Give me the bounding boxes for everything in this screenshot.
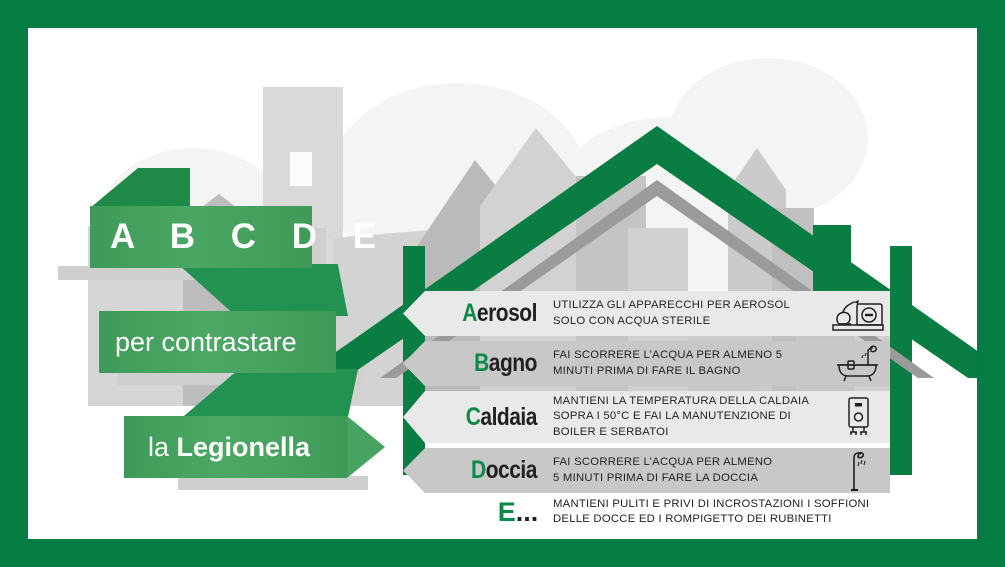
tip-row-aerosol[interactable]: Aerosol UTILIZZA GLI APPARECCHI PER AERO… — [425, 291, 890, 336]
row-arrow-tip — [403, 391, 425, 443]
ribbon-arrow-tip — [347, 416, 385, 478]
boiler-icon — [826, 395, 890, 439]
ribbon-line-1: A B C D E — [110, 217, 389, 257]
tip-text-final-note: MANTIENI PULITI E PRIVI DI INCROSTAZIONI… — [553, 497, 903, 528]
tip-row-bagno[interactable]: Bagno FAI SCORRERE L’ACQUA PER ALMENO 5 … — [425, 341, 890, 386]
ribbon-shadow — [178, 476, 368, 490]
poster-canvas: A B C D E per contrastare la Legionella … — [28, 28, 977, 539]
row-arrow-tip — [403, 291, 425, 336]
tip-row-caldaia[interactable]: Caldaia MANTIENI LA TEMPERATURA DELLA CA… — [425, 391, 890, 443]
ribbon-band-subtitle: per contrastare — [99, 311, 336, 373]
tip-row-final-note: E... MANTIENI PULITI E PRIVI DI INCROSTA… — [483, 486, 903, 538]
poster-frame: A B C D E per contrastare la Legionella … — [0, 0, 1005, 567]
tip-text-bagno: FAI SCORRERE L’ACQUA PER ALMENO 5 MINUTI… — [547, 348, 826, 378]
row-arrow-tip — [403, 341, 425, 386]
tip-label-caldaia: Caldaia — [445, 403, 547, 432]
ribbon-band-title: la Legionella — [124, 416, 347, 478]
ribbon-line-3-keyword: Legionella — [177, 432, 311, 462]
tip-text-doccia: FAI SCORRERE L’ACQUA PER ALMENO 5 MINUTI… — [547, 455, 826, 485]
tip-label-e: E... — [483, 497, 553, 528]
ribbon-band-abcde: A B C D E — [90, 206, 312, 268]
bathtub-icon — [826, 343, 890, 385]
ribbon-line-2: per contrastare — [115, 327, 297, 358]
tip-text-caldaia: MANTIENI LA TEMPERATURA DELLA CALDAIA SO… — [547, 394, 826, 439]
tip-label-aerosol: Aerosol — [445, 299, 547, 328]
ribbon-line-3-prefix: la — [148, 432, 177, 462]
tip-text-aerosol: UTILIZZA GLI APPARECCHI PER AEROSOL SOLO… — [547, 298, 826, 328]
aerosol-nebulizer-icon — [826, 294, 890, 334]
tip-label-bagno: Bagno — [445, 349, 547, 378]
row-arrow-tip — [403, 448, 425, 493]
tip-label-doccia: Doccia — [445, 456, 547, 485]
